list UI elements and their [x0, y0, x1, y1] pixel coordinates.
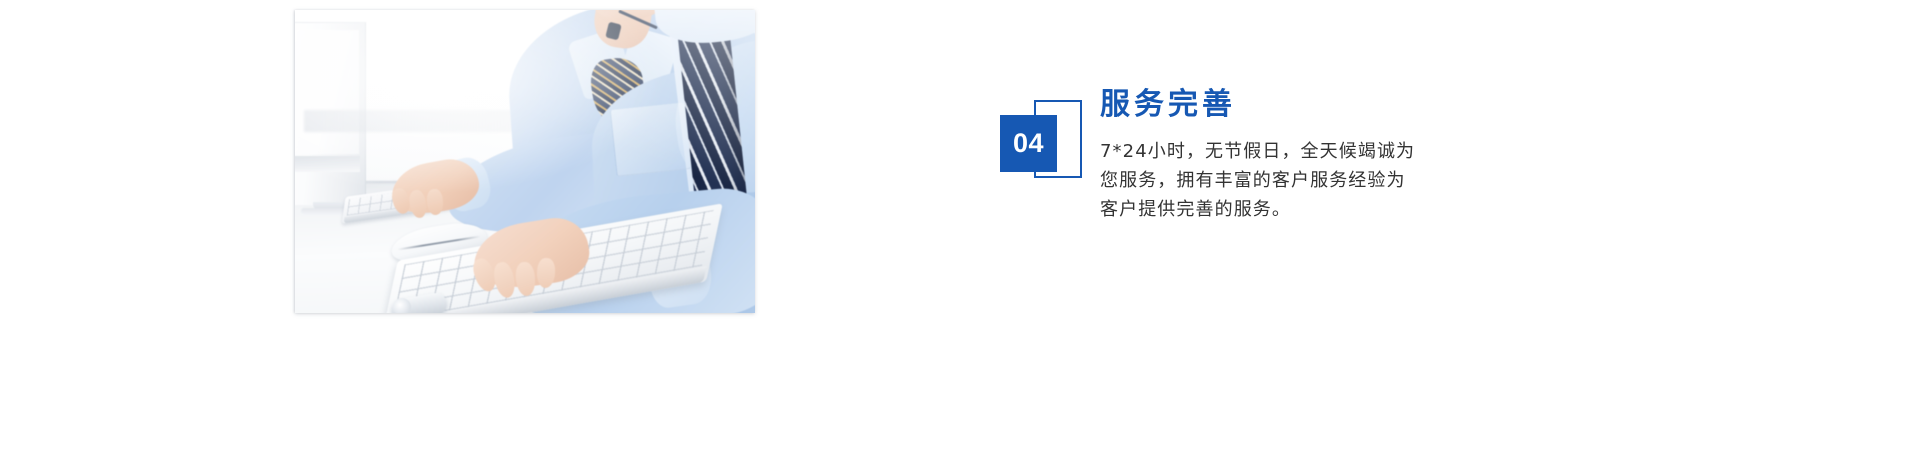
feature-description-line: 客户提供完善的服务。	[1100, 195, 1496, 224]
badge-number-label: 04	[1000, 115, 1057, 172]
monitor-screen	[295, 30, 359, 154]
feature-description-line: 7*24小时，无节假日，全天候竭诚为	[1100, 137, 1496, 166]
feature-text-block: 服务完善 7*24小时，无节假日，全天候竭诚为 您服务，拥有丰富的客户服务经验为…	[1100, 88, 1500, 224]
photo-canvas	[295, 10, 755, 313]
feature-index-badge: 04	[1000, 100, 1086, 180]
feature-description-line: 您服务，拥有丰富的客户服务经验为	[1100, 166, 1496, 195]
photo-scene	[295, 10, 755, 313]
feature-photo	[295, 10, 755, 313]
monitor-chin	[295, 156, 360, 172]
feature-section: 04 服务完善 7*24小时，无节假日，全天候竭诚为 您服务，拥有丰富的客户服务…	[0, 0, 1920, 452]
feature-title: 服务完善	[1100, 88, 1500, 123]
agent-front-shirt-pocket	[610, 102, 692, 176]
feature-description: 7*24小时，无节假日，全天候竭诚为 您服务，拥有丰富的客户服务经验为 客户提供…	[1100, 137, 1496, 224]
